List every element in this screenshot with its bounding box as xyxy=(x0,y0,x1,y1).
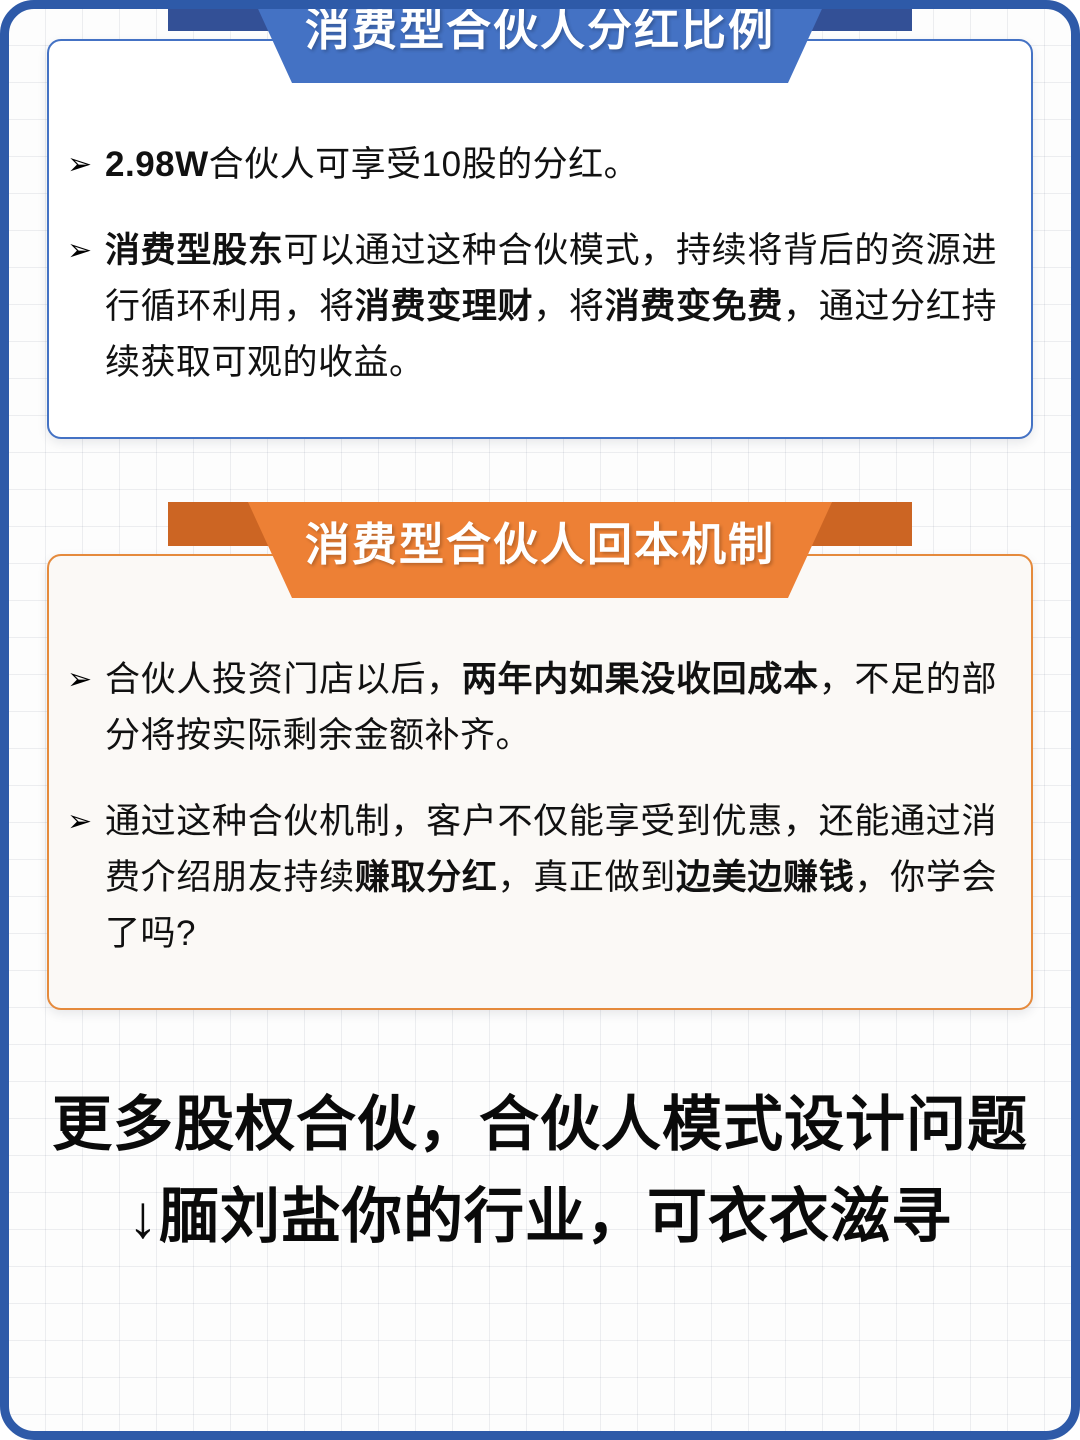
bullet-text: 合伙人投资门店以后，两年内如果没收回成本，不足的部分将按实际剩余金额补齐。 xyxy=(105,652,997,764)
list-item: ➢ 2.98W合伙人可享受10股的分红。 xyxy=(59,137,997,193)
section-dividend: 消费型合伙人分红比例 ➢ 2.98W合伙人可享受10股的分红。 ➢ 消费型股东可… xyxy=(47,39,1033,439)
dividend-banner-title: 消费型合伙人分红比例 xyxy=(168,0,912,61)
bullet-text: 2.98W合伙人可享受10股的分红。 xyxy=(105,137,997,193)
footer-heading: 更多股权合伙，合伙人模式设计问题 ↓腼刘盐你的行业，可衣衣滋寻 xyxy=(39,1079,1041,1263)
payback-card: 消费型合伙人回本机制 ➢ 合伙人投资门店以后，两年内如果没收回成本，不足的部分将… xyxy=(47,554,1033,1010)
footer-heading-line-2: ↓腼刘盐你的行业，可衣衣滋寻 xyxy=(39,1171,1041,1263)
bullet-arrow-icon: ➢ xyxy=(59,652,105,708)
bullet-arrow-icon: ➢ xyxy=(59,794,105,850)
list-item: ➢ 通过这种合伙机制，客户不仅能享受到优惠，还能通过消费介绍朋友持续赚取分红，真… xyxy=(59,794,997,962)
list-item: ➢ 消费型股东可以通过这种合伙模式，持续将背后的资源进行循环利用，将消费变理财，… xyxy=(59,223,997,391)
footer-heading-line-1: 更多股权合伙，合伙人模式设计问题 xyxy=(39,1079,1041,1171)
payback-banner-title: 消费型合伙人回本机制 xyxy=(168,514,912,576)
payback-bullet-list: ➢ 合伙人投资门店以后，两年内如果没收回成本，不足的部分将按实际剩余金额补齐。 … xyxy=(59,652,997,962)
payback-banner: 消费型合伙人回本机制 xyxy=(168,498,912,602)
dividend-card: 消费型合伙人分红比例 ➢ 2.98W合伙人可享受10股的分红。 ➢ 消费型股东可… xyxy=(47,39,1033,439)
section-payback: 消费型合伙人回本机制 ➢ 合伙人投资门店以后，两年内如果没收回成本，不足的部分将… xyxy=(47,554,1033,1010)
list-item: ➢ 合伙人投资门店以后，两年内如果没收回成本，不足的部分将按实际剩余金额补齐。 xyxy=(59,652,997,764)
bullet-arrow-icon: ➢ xyxy=(59,137,105,193)
bullet-text: 消费型股东可以通过这种合伙模式，持续将背后的资源进行循环利用，将消费变理财，将消… xyxy=(105,223,997,391)
bullet-text: 通过这种合伙机制，客户不仅能享受到优惠，还能通过消费介绍朋友持续赚取分红，真正做… xyxy=(105,794,997,962)
poster-frame: 消费型合伙人分红比例 ➢ 2.98W合伙人可享受10股的分红。 ➢ 消费型股东可… xyxy=(0,0,1080,1440)
dividend-bullet-list: ➢ 2.98W合伙人可享受10股的分红。 ➢ 消费型股东可以通过这种合伙模式，持… xyxy=(59,137,997,391)
bullet-arrow-icon: ➢ xyxy=(59,223,105,279)
dividend-banner: 消费型合伙人分红比例 xyxy=(168,0,912,87)
